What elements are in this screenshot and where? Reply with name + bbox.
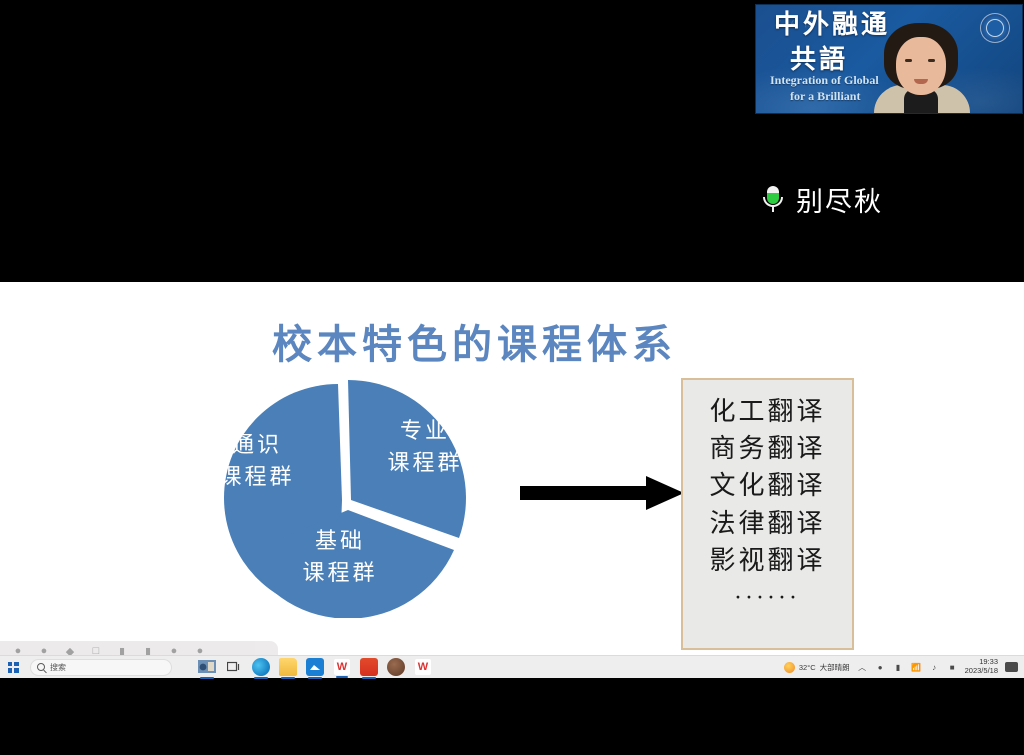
windows-logo-icon xyxy=(8,662,19,673)
tray-volume-icon[interactable]: ♪ xyxy=(929,662,940,673)
tray-ime-icon[interactable]: ■ xyxy=(947,662,958,673)
tray-chevron-up-icon[interactable]: ︿ xyxy=(857,662,868,673)
search-icon xyxy=(37,663,45,671)
tray-battery-icon[interactable]: ▮ xyxy=(893,662,904,673)
video-banner-title-line2: 共語 xyxy=(790,39,848,76)
course-item: 文化翻译 xyxy=(683,468,852,505)
course-item: 影视翻译 xyxy=(683,543,852,580)
course-item: 化工翻译 xyxy=(683,394,852,431)
taskbar-app-wps-office[interactable]: W xyxy=(333,658,351,676)
sun-icon xyxy=(784,662,795,673)
course-system-pie-chart: 通识 课程群 专业 课程群 基础 课程群 xyxy=(152,378,532,618)
clock-widget[interactable]: 19:33 2023/5/18 xyxy=(965,658,998,675)
taskbar-app-powerpoint-presentation[interactable] xyxy=(198,658,216,676)
participant-name: 别尽秋 xyxy=(796,180,883,219)
translation-course-box: 化工翻译 商务翻译 文化翻译 法律翻译 影视翻译 ······ xyxy=(681,378,854,650)
store-icon xyxy=(309,663,321,672)
participant-label: 别尽秋 xyxy=(762,180,883,219)
pie-label-general-courses: 通识 课程群 xyxy=(182,430,332,494)
course-item: 商务翻译 xyxy=(683,431,852,468)
university-seal-icon xyxy=(980,13,1010,43)
video-banner-subtitle-line2: for a Brilliant xyxy=(790,89,860,104)
taskbar-app-icons: W W xyxy=(198,658,432,676)
slide-title: 校本特色的课程体系 xyxy=(272,312,677,370)
tray-app-icon[interactable]: ● xyxy=(875,662,886,673)
shared-slide: 校本特色的课程体系 通识 课程群 专业 课程群 基础 课程群 化工翻译 商务翻译… xyxy=(0,282,1024,678)
system-tray: 32°C 大部晴朗 ︿ ● ▮ 📶 ♪ ■ 19:33 2023/5/18 xyxy=(784,658,1024,675)
weather-widget[interactable]: 32°C 大部晴朗 xyxy=(784,662,850,673)
start-button[interactable] xyxy=(0,656,26,679)
speaker-avatar xyxy=(874,23,970,114)
pie-label-major-courses: 专业 课程群 xyxy=(350,416,500,480)
course-item: 法律翻译 xyxy=(683,506,852,543)
video-banner-subtitle-line1: Integration of Global xyxy=(770,73,879,88)
taskbar-app-task-view[interactable] xyxy=(225,658,243,676)
meeting-screen: こんにちは 中外融通 共語 Integration of Global for … xyxy=(0,0,1024,755)
pie-label-basic-courses: 基础 课程群 xyxy=(260,526,420,590)
search-input[interactable]: 搜索 xyxy=(30,659,172,676)
course-ellipsis: ······ xyxy=(683,586,852,611)
taskbar-app-microsoft-edge[interactable] xyxy=(252,658,270,676)
taskbar-app-red[interactable]: W xyxy=(414,658,432,676)
speaker-video-thumbnail[interactable]: こんにちは 中外融通 共語 Integration of Global for … xyxy=(755,4,1023,114)
search-placeholder: 搜索 xyxy=(50,662,66,673)
taskbar-app-microsoft-store[interactable] xyxy=(306,658,324,676)
clock-date: 2023/5/18 xyxy=(965,667,998,676)
microphone-stem xyxy=(772,206,774,212)
speaker-eye-left xyxy=(905,59,912,62)
taskbar-app-brown[interactable] xyxy=(387,658,405,676)
windows-taskbar: 搜索 W xyxy=(0,655,1024,678)
speaker-face xyxy=(896,37,946,95)
right-arrow-icon xyxy=(516,472,688,514)
taskbar-app-orange[interactable] xyxy=(360,658,378,676)
taskbar-app-file-explorer[interactable] xyxy=(279,658,297,676)
speaker-eye-right xyxy=(928,59,935,62)
weather-temperature: 32°C xyxy=(799,663,816,672)
weather-description: 大部晴朗 xyxy=(820,662,850,673)
notifications-icon[interactable] xyxy=(1005,662,1018,672)
video-banner-title-line1: 中外融通 xyxy=(774,11,890,41)
microphone-icon xyxy=(762,186,784,214)
tray-network-icon[interactable]: 📶 xyxy=(911,662,922,673)
task-view-icon xyxy=(227,661,241,673)
presentation-thumbnail-icon xyxy=(198,659,216,675)
